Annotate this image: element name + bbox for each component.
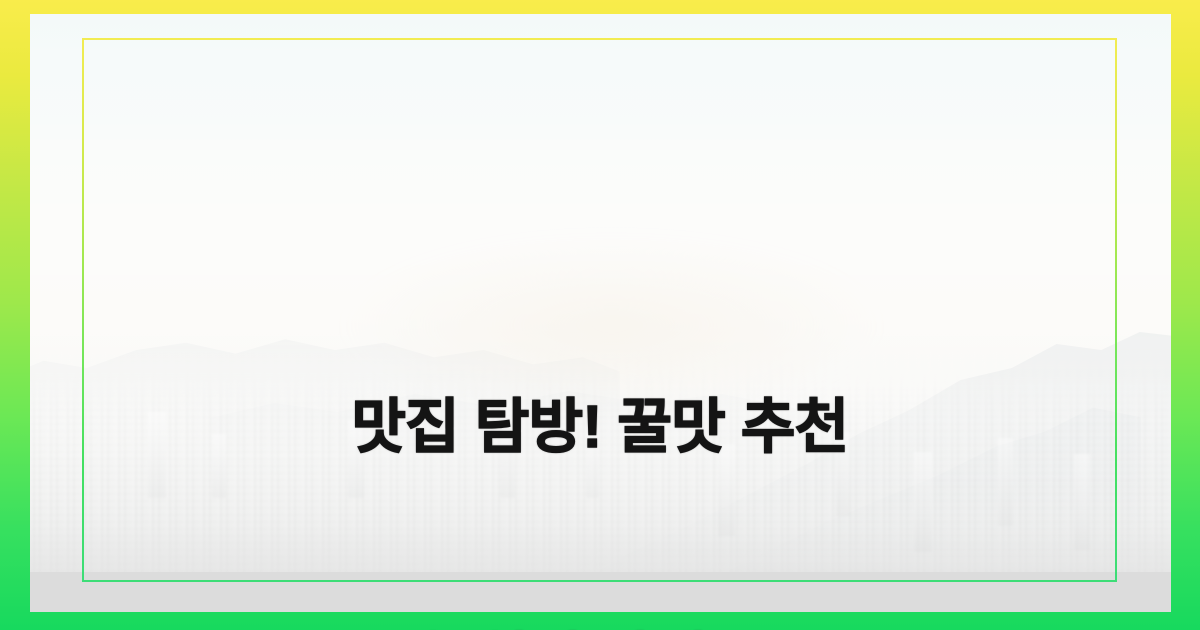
headline-line-1: 맛집 탐방! 꿀맛 추천	[0, 388, 1200, 466]
headline-line-2: 놓치지 마세요!	[0, 622, 1200, 630]
thumbnail-card: 맛집 탐방! 꿀맛 추천 놓치지 마세요!	[0, 0, 1200, 630]
headline-text: 맛집 탐방! 꿀맛 추천 놓치지 마세요!	[0, 232, 1200, 630]
